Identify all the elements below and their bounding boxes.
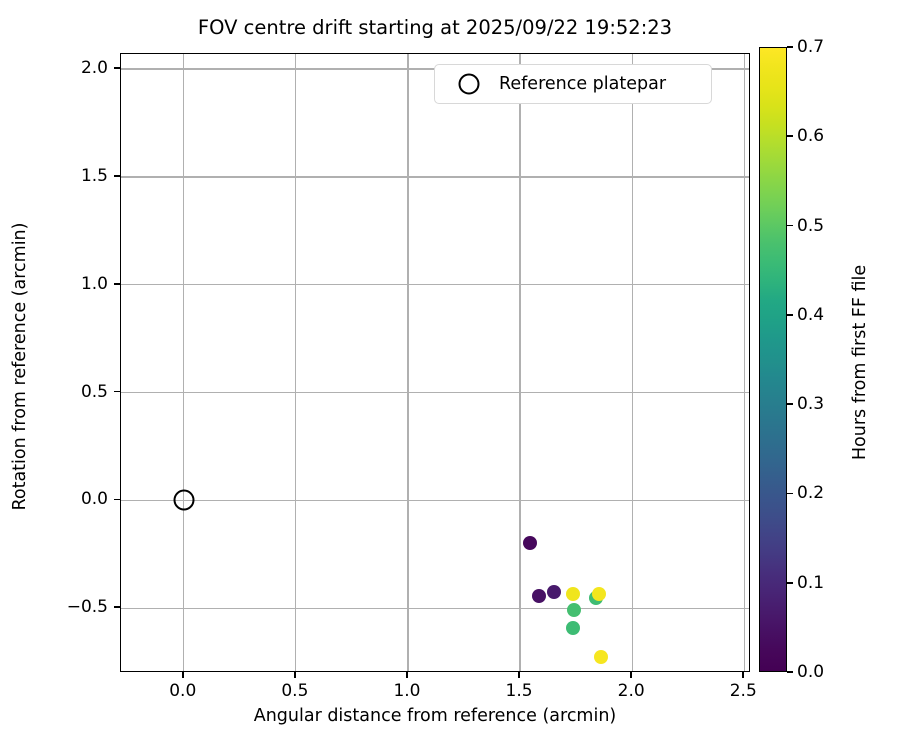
x-axis-tick-label: 0.0	[148, 681, 218, 701]
x-axis-tick	[406, 672, 408, 678]
data-point	[547, 585, 561, 599]
y-axis-label: Rotation from reference (arcmin)	[10, 57, 31, 676]
colorbar-tick-label: 0.6	[797, 126, 824, 146]
reference-platepar-marker-icon	[459, 74, 480, 95]
gridline-vertical	[295, 54, 296, 671]
y-axis-tick-label: 0.5	[28, 382, 108, 402]
y-axis-tick	[114, 606, 120, 608]
colorbar-tick	[787, 135, 793, 137]
colorbar-tick-label: 0.1	[797, 573, 824, 593]
plot-area	[121, 54, 749, 671]
gridline-vertical	[407, 54, 408, 671]
y-axis-tick-label: 2.0	[28, 58, 108, 78]
colorbar-gradient	[760, 48, 786, 671]
plot-axes	[120, 53, 750, 672]
gridline-horizontal	[121, 608, 749, 609]
gridline-vertical	[632, 54, 633, 671]
x-axis-tick	[182, 672, 184, 678]
x-axis-tick-label: 2.5	[708, 681, 778, 701]
colorbar-tick-label: 0.3	[797, 394, 824, 414]
y-axis-tick-label: 1.5	[28, 166, 108, 186]
y-axis-tick-label: −0.5	[28, 597, 108, 617]
x-axis-tick	[518, 672, 520, 678]
gridline-horizontal	[121, 500, 749, 501]
colorbar-tick-label: 0.7	[797, 37, 824, 57]
y-axis-tick-label: 1.0	[28, 274, 108, 294]
colorbar-tick	[787, 582, 793, 584]
colorbar-tick	[787, 493, 793, 495]
colorbar-tick	[787, 403, 793, 405]
data-point	[566, 587, 580, 601]
chart-title: FOV centre drift starting at 2025/09/22 …	[120, 16, 750, 40]
data-point	[532, 589, 546, 603]
data-point	[566, 621, 580, 635]
y-axis-tick	[114, 391, 120, 393]
x-axis-tick-label: 1.0	[372, 681, 442, 701]
data-point	[567, 603, 581, 617]
colorbar-tick	[787, 46, 793, 48]
y-axis-tick	[114, 499, 120, 501]
y-axis-tick-label: 0.0	[28, 489, 108, 509]
colorbar-tick	[787, 671, 793, 673]
x-axis-tick	[742, 672, 744, 678]
gridline-horizontal	[121, 284, 749, 285]
gridline-vertical	[519, 54, 520, 671]
gridline-horizontal	[121, 176, 749, 177]
colorbar-tick-label: 0.0	[797, 662, 824, 682]
y-axis-tick	[114, 283, 120, 285]
x-axis-tick-label: 0.5	[260, 681, 330, 701]
legend: Reference platepar	[434, 64, 712, 104]
colorbar-tick	[787, 314, 793, 316]
colorbar-tick	[787, 225, 793, 227]
colorbar-tick-label: 0.5	[797, 216, 824, 236]
colorbar-tick-label: 0.4	[797, 305, 824, 325]
x-axis-tick-label: 1.5	[484, 681, 554, 701]
data-point	[592, 587, 606, 601]
gridline-vertical	[744, 54, 745, 671]
reference-platepar-point	[173, 490, 194, 511]
y-axis-tick	[114, 175, 120, 177]
colorbar-label: Hours from first FF file	[850, 50, 871, 675]
colorbar	[759, 47, 787, 672]
data-point	[523, 536, 537, 550]
x-axis-label: Angular distance from reference (arcmin)	[120, 706, 750, 727]
colorbar-tick-label: 0.2	[797, 483, 824, 503]
gridline-horizontal	[121, 392, 749, 393]
x-axis-tick	[630, 672, 632, 678]
figure: FOV centre drift starting at 2025/09/22 …	[0, 0, 900, 750]
x-axis-tick-label: 2.0	[596, 681, 666, 701]
data-point	[594, 650, 608, 664]
x-axis-tick	[294, 672, 296, 678]
y-axis-tick	[114, 67, 120, 69]
legend-label: Reference platepar	[499, 74, 666, 94]
gridline-vertical	[183, 54, 184, 671]
